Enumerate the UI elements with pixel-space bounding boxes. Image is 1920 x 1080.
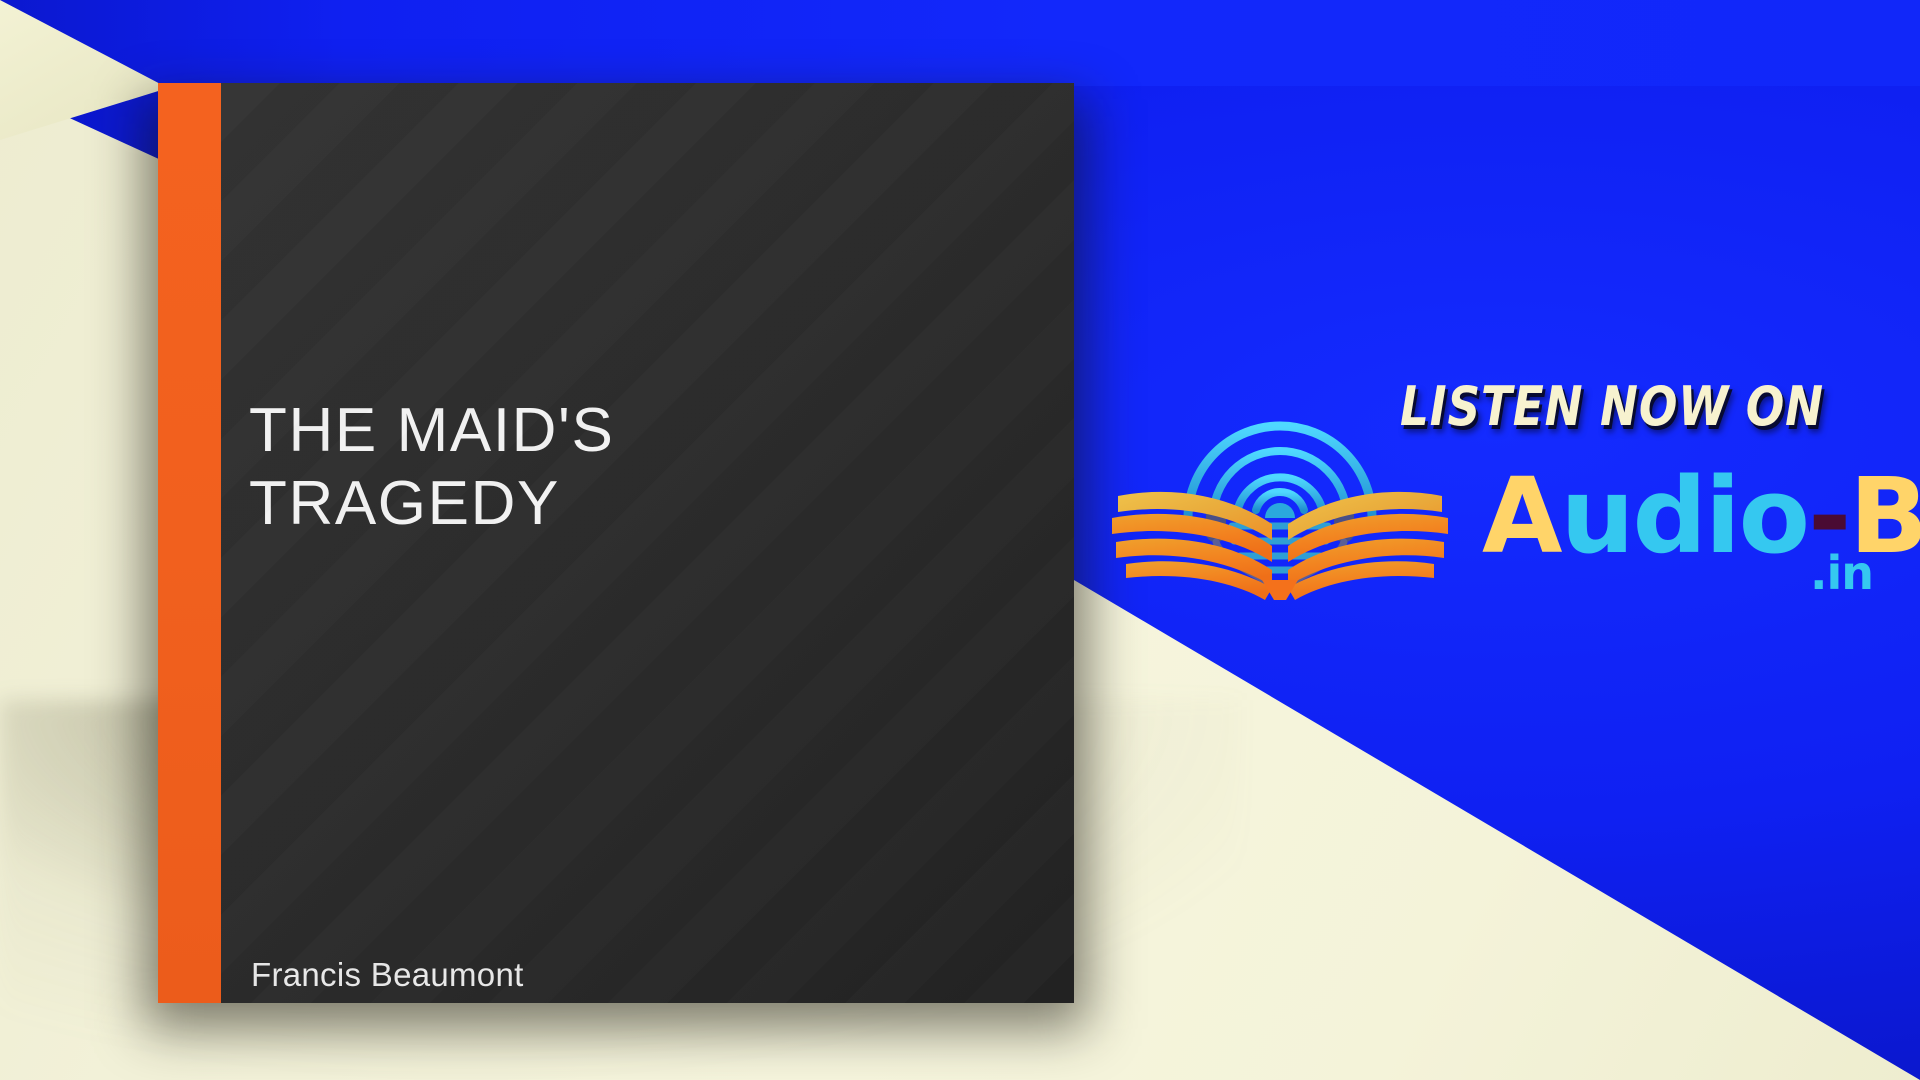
book-cover-front-face: THE MAID'S TRAGEDY Francis Beaumont: [221, 83, 1074, 1003]
promo-banner: THE MAID'S TRAGEDY Francis Beaumont LIST…: [0, 0, 1920, 1080]
wordmark-tld: .in: [1810, 550, 1873, 596]
listen-now-on-tagline: LISTEN NOW ON: [1400, 380, 1824, 434]
open-book-with-headphones-icon: [1110, 400, 1450, 600]
book-cover-spine: [158, 83, 221, 1003]
book-cover[interactable]: THE MAID'S TRAGEDY Francis Beaumont: [158, 83, 1074, 1003]
wordmark-text-udio: udio: [1561, 455, 1809, 577]
wordmark-letter-a: A: [1482, 455, 1561, 577]
book-author: Francis Beaumont: [251, 956, 524, 994]
brand-block: LISTEN NOW ON: [1110, 380, 1910, 640]
background-top-blue-strip: [0, 0, 1920, 86]
book-cover-surface: THE MAID'S TRAGEDY Francis Beaumont: [158, 83, 1074, 1003]
book-title: THE MAID'S TRAGEDY: [249, 395, 989, 540]
